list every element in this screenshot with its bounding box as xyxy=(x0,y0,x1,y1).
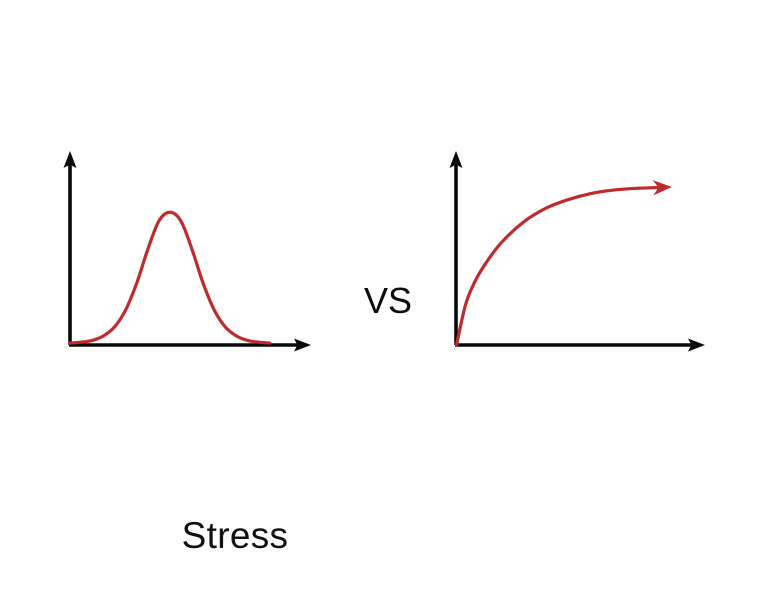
anxiety-curve xyxy=(457,188,658,345)
figure-root: Stress VS Anxiety xyxy=(0,0,768,614)
stress-chart-svg xyxy=(40,140,340,370)
caption-stress: Stress xyxy=(100,516,370,556)
anxiety-chart-svg xyxy=(430,140,730,370)
chart-panel-anxiety: Anxiety xyxy=(430,140,730,370)
stress-curve xyxy=(70,212,270,343)
vs-label: VS xyxy=(348,282,428,320)
chart-panel-stress: Stress xyxy=(40,140,340,370)
